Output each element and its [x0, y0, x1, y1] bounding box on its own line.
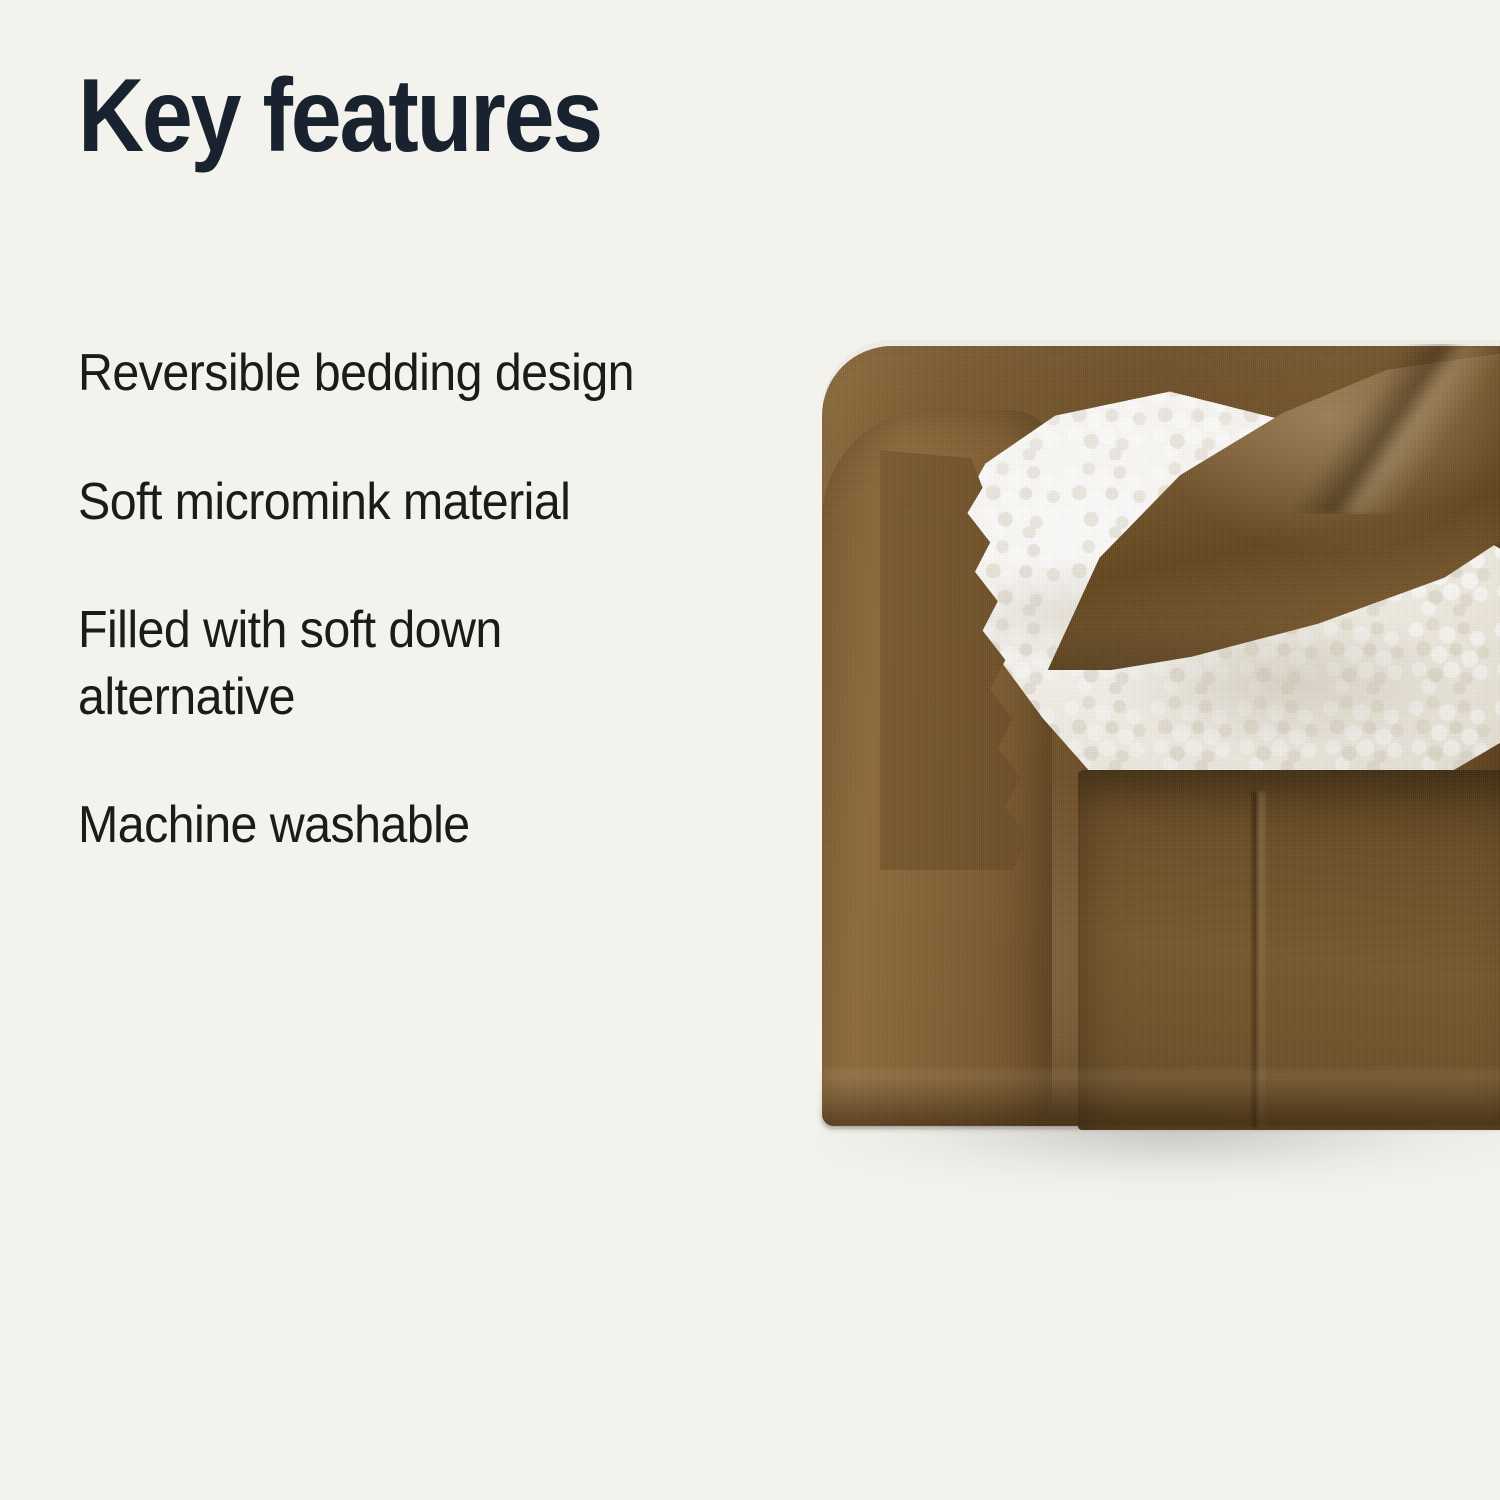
text-column: Key features Reversible bedding design S… [78, 0, 778, 1500]
page-title: Key features [78, 62, 601, 171]
feature-item-soft-micromink-material: Soft micromink material [78, 469, 673, 536]
infographic-canvas: Key features Reversible bedding design S… [0, 0, 1500, 1500]
product-photo-folded-blanket [760, 300, 1500, 1200]
feature-item-reversible-bedding-design: Reversible bedding design [78, 340, 673, 407]
feature-item-filled-with-soft-down-alternative: Filled with soft down alternative [78, 597, 673, 730]
blanket-bottom-edge-shading [822, 1070, 1500, 1128]
feature-item-machine-washable: Machine washable [78, 792, 673, 859]
feature-list: Reversible bedding design Soft micromink… [78, 340, 778, 859]
